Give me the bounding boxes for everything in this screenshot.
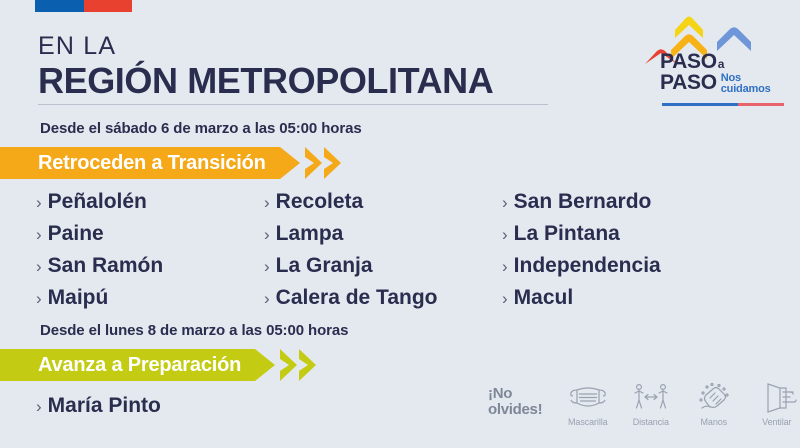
comuna-list-avanza: › María Pinto (36, 390, 161, 422)
bullet-chevron-icon: › (502, 190, 508, 216)
flag-red-block (84, 0, 133, 12)
bullet-chevron-icon: › (36, 254, 42, 280)
reminder-item-ventilar: Ventilar (745, 380, 800, 427)
comuna-label: Peñalolén (48, 186, 147, 218)
reminder-label: Mascarilla (568, 417, 608, 427)
logo-word-paso-1: PASO (660, 52, 717, 73)
bullet-chevron-icon: › (264, 254, 270, 280)
comuna-label: San Bernardo (514, 186, 652, 218)
bullet-chevron-icon: › (36, 286, 42, 312)
bullet-chevron-icon: › (264, 286, 270, 312)
reminder-heading-line-2: olvides! (488, 401, 542, 418)
chevron-right-icon (324, 147, 341, 179)
reminder-strip: ¡No olvides! Mascarilla (488, 378, 800, 440)
bullet-chevron-icon: › (264, 190, 270, 216)
comuna-label: La Granja (276, 250, 373, 282)
logo-underline-blue (662, 103, 738, 106)
comuna-label: Macul (514, 282, 574, 314)
chile-flag-bar (35, 0, 132, 12)
banner-avanza-label: Avanza a Preparación (0, 349, 255, 381)
comuna-label: Lampa (276, 218, 344, 250)
chevron-right-icon (299, 349, 316, 381)
header-divider (38, 104, 548, 105)
logo-underline-red (738, 103, 784, 106)
reminder-item-manos: Manos (682, 380, 745, 427)
bullet-chevron-icon: › (36, 190, 42, 216)
banner-avanza: Avanza a Preparación (0, 349, 316, 381)
comuna-label: Recoleta (276, 186, 364, 218)
reminder-label: Distancia (633, 417, 669, 427)
bullet-chevron-icon: › (502, 286, 508, 312)
bullet-chevron-icon: › (502, 222, 508, 248)
logo-underline-bar (662, 103, 784, 106)
list-item: › Peñalolén (36, 186, 264, 218)
reminder-label: Manos (701, 417, 728, 427)
reminder-heading-line-1: ¡No (488, 385, 512, 402)
dateline-avanza: Desde el lunes 8 de marzo a las 05:00 ho… (40, 322, 348, 339)
list-item: › Macul (502, 282, 742, 314)
face-mask-icon (567, 380, 609, 414)
bullet-chevron-icon: › (36, 222, 42, 248)
list-item: › María Pinto (36, 390, 161, 422)
logo-tagline: Nos cuidamos (721, 73, 771, 95)
logo-tagline-line-2: cuidamos (721, 83, 771, 95)
list-item: › San Ramón (36, 250, 264, 282)
list-item: › La Pintana (502, 218, 742, 250)
banner-avanza-chevrons (278, 349, 316, 381)
banner-retroceden-label: Retroceden a Transición (0, 147, 280, 179)
flag-blue-block (35, 0, 84, 12)
social-distance-icon (630, 380, 672, 414)
reminder-item-distancia: Distancia (619, 380, 682, 427)
header-kicker: EN LA (38, 34, 493, 59)
page-header: EN LA REGIÓN METROPOLITANA (38, 34, 493, 101)
logo-word-paso-2: PASO (660, 73, 717, 94)
reminder-heading: ¡No olvides! (488, 386, 542, 418)
logo-word-a: a (718, 59, 724, 71)
chevron-right-icon (280, 349, 297, 381)
banner-retroceden-arrow-icon (280, 147, 300, 179)
infographic-canvas: EN LA REGIÓN METROPOLITANA PASO a PASO (0, 0, 800, 448)
logo-wordmark: PASO a PASO Nos cuidamos (660, 52, 771, 95)
list-item: › Calera de Tango (264, 282, 502, 314)
comuna-label: Paine (48, 218, 104, 250)
reminder-label: Ventilar (762, 417, 791, 427)
bullet-chevron-icon: › (264, 222, 270, 248)
comuna-label: Calera de Tango (276, 282, 438, 314)
reminder-item-mascarilla: Mascarilla (556, 380, 619, 427)
banner-retroceden: Retroceden a Transición (0, 147, 341, 179)
banner-retroceden-chevrons (303, 147, 341, 179)
bullet-chevron-icon: › (502, 254, 508, 280)
banner-avanza-arrow-icon (255, 349, 275, 381)
comuna-list-retroceden: › Peñalolén › Paine › San Ramón › Maipú … (36, 186, 756, 314)
list-item: › San Bernardo (502, 186, 742, 218)
comuna-column-3: › San Bernardo › La Pintana › Independen… (502, 186, 742, 314)
comuna-label: La Pintana (514, 218, 620, 250)
page-title: REGIÓN METROPOLITANA (38, 61, 493, 101)
list-item: › Paine (36, 218, 264, 250)
list-item: › Independencia (502, 250, 742, 282)
bullet-chevron-icon: › (36, 394, 42, 420)
list-item: › Lampa (264, 218, 502, 250)
list-item: › Maipú (36, 282, 264, 314)
paso-a-paso-logo: PASO a PASO Nos cuidamos (645, 8, 793, 104)
logo-paso-paso: PASO a PASO Nos cuidamos (660, 52, 771, 95)
chevron-right-icon (305, 147, 322, 179)
comuna-label: Independencia (514, 250, 661, 282)
comuna-label: María Pinto (48, 390, 161, 422)
comuna-column-1: › Peñalolén › Paine › San Ramón › Maipú (36, 186, 264, 314)
list-item: › La Granja (264, 250, 502, 282)
comuna-column-2: › Recoleta › Lampa › La Granja › Calera … (264, 186, 502, 314)
comuna-label: Maipú (48, 282, 109, 314)
comuna-label: San Ramón (48, 250, 164, 282)
wash-hands-icon (693, 380, 735, 414)
list-item: › Recoleta (264, 186, 502, 218)
dateline-retroceden: Desde el sábado 6 de marzo a las 05:00 h… (40, 120, 362, 137)
ventilate-window-icon (756, 380, 798, 414)
